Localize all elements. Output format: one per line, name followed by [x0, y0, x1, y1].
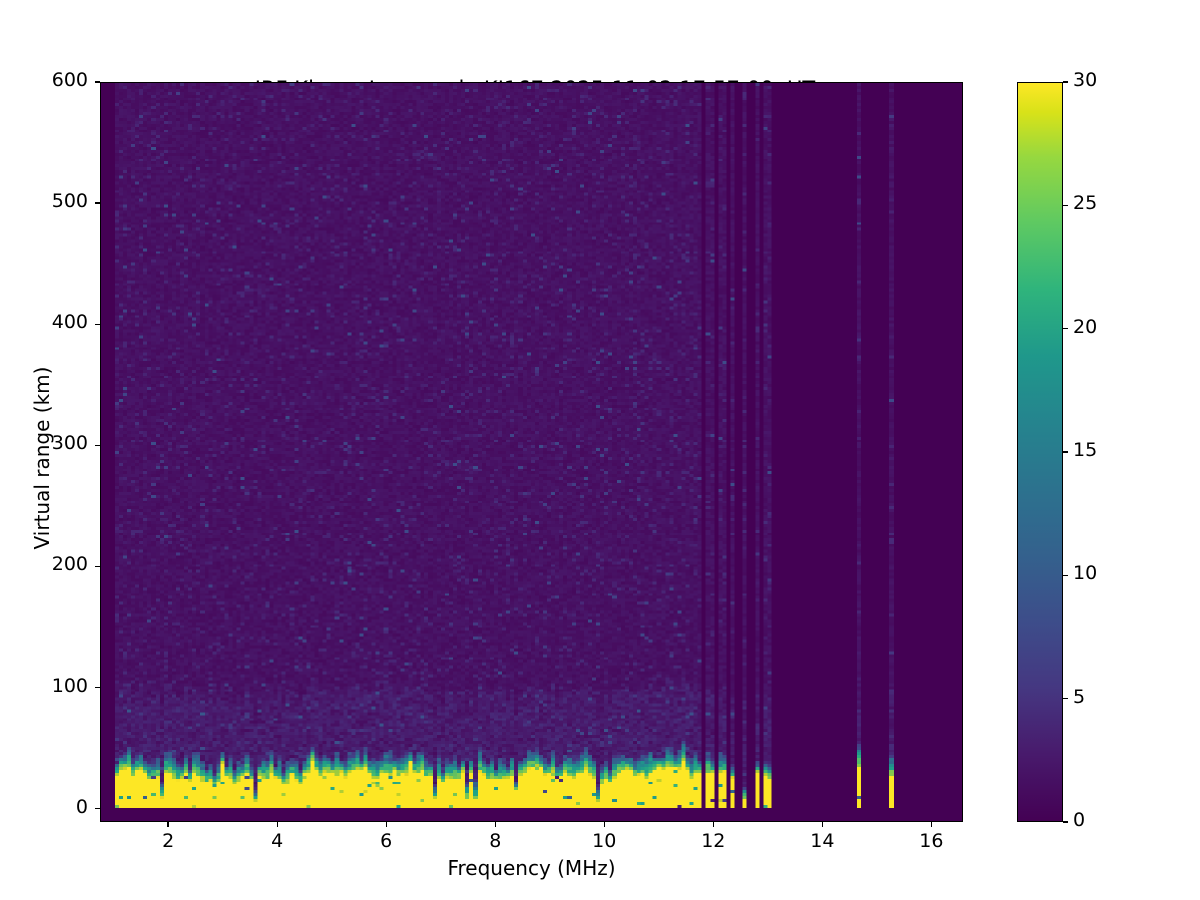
colorbar-tick-label: 15 [1073, 439, 1097, 461]
x-tick-label: 4 [237, 830, 317, 852]
y-tick-mark [95, 445, 100, 446]
colorbar-tick-mark [1063, 575, 1068, 576]
y-tick-mark [95, 324, 100, 325]
x-tick-label: 10 [564, 830, 644, 852]
colorbar-tick-label: 5 [1073, 686, 1085, 708]
x-tick-label: 8 [455, 830, 535, 852]
y-tick-mark [95, 81, 100, 82]
x-tick-label: 2 [128, 830, 208, 852]
x-tick-label: 12 [673, 830, 753, 852]
colorbar-tick-mark [1063, 821, 1068, 822]
colorbar-tick-label: 30 [1073, 69, 1097, 91]
y-tick-mark [95, 808, 100, 809]
x-tick-mark [931, 822, 932, 827]
y-axis-label: Virtual range (km) [30, 88, 54, 828]
colorbar-tick-mark [1063, 81, 1068, 82]
colorbar-tick-mark [1063, 698, 1068, 699]
y-tick-mark [95, 566, 100, 567]
x-tick-mark [277, 822, 278, 827]
ionogram-heatmap-canvas [101, 83, 962, 821]
x-tick-mark [167, 822, 168, 827]
x-tick-mark [713, 822, 714, 827]
colorbar-tick-label: 10 [1073, 562, 1097, 584]
ionogram-plot-area [100, 82, 963, 822]
x-tick-mark [495, 822, 496, 827]
x-tick-mark [386, 822, 387, 827]
ionogram-figure: IRF Kiruna Ionosonde KI167 2025-11-02 17… [0, 0, 1200, 900]
x-tick-label: 14 [782, 830, 862, 852]
colorbar [1017, 82, 1063, 822]
colorbar-tick-label: 25 [1073, 192, 1097, 214]
x-tick-label: 6 [346, 830, 426, 852]
colorbar-tick-mark [1063, 328, 1068, 329]
colorbar-tick-mark [1063, 205, 1068, 206]
x-axis-label: Frequency (MHz) [100, 856, 963, 880]
y-tick-mark [95, 687, 100, 688]
colorbar-tick-mark [1063, 451, 1068, 452]
colorbar-tick-label: 20 [1073, 316, 1097, 338]
y-tick-mark [95, 202, 100, 203]
x-tick-label: 16 [891, 830, 971, 852]
colorbar-tick-label: 0 [1073, 809, 1085, 831]
x-tick-mark [822, 822, 823, 827]
x-tick-mark [604, 822, 605, 827]
